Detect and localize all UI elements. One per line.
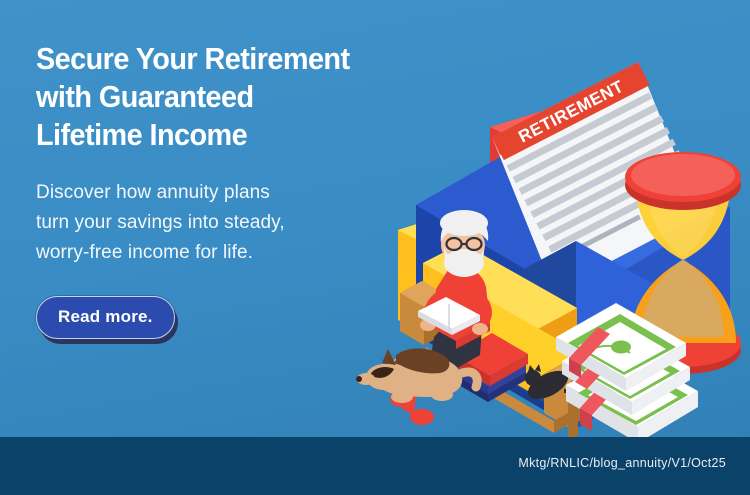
headline-line-1: Secure Your Retirement xyxy=(36,41,350,76)
footer-code: Mktg/RNLIC/blog_annuity/V1/Oct25 xyxy=(518,456,726,470)
promo-banner: RETIREMENT xyxy=(0,0,750,495)
headline-line-2: with Guaranteed xyxy=(36,79,254,114)
read-more-button[interactable]: Read more. xyxy=(36,296,175,339)
page-title: Secure Your Retirement with Guaranteed L… xyxy=(36,40,375,154)
copy-block: Secure Your Retirement with Guaranteed L… xyxy=(0,0,400,437)
subheadline-line-3: worry-free income for life. xyxy=(36,238,356,268)
subheadline: Discover how annuity plans turn your sav… xyxy=(36,178,356,268)
footer-bar: Mktg/RNLIC/blog_annuity/V1/Oct25 xyxy=(0,437,750,495)
cta-wrapper: Read more. xyxy=(36,296,400,339)
headline-line-3: Lifetime Income xyxy=(36,117,247,152)
subheadline-line-1: Discover how annuity plans xyxy=(36,178,341,208)
subheadline-line-2: turn your savings into steady, xyxy=(36,208,356,238)
